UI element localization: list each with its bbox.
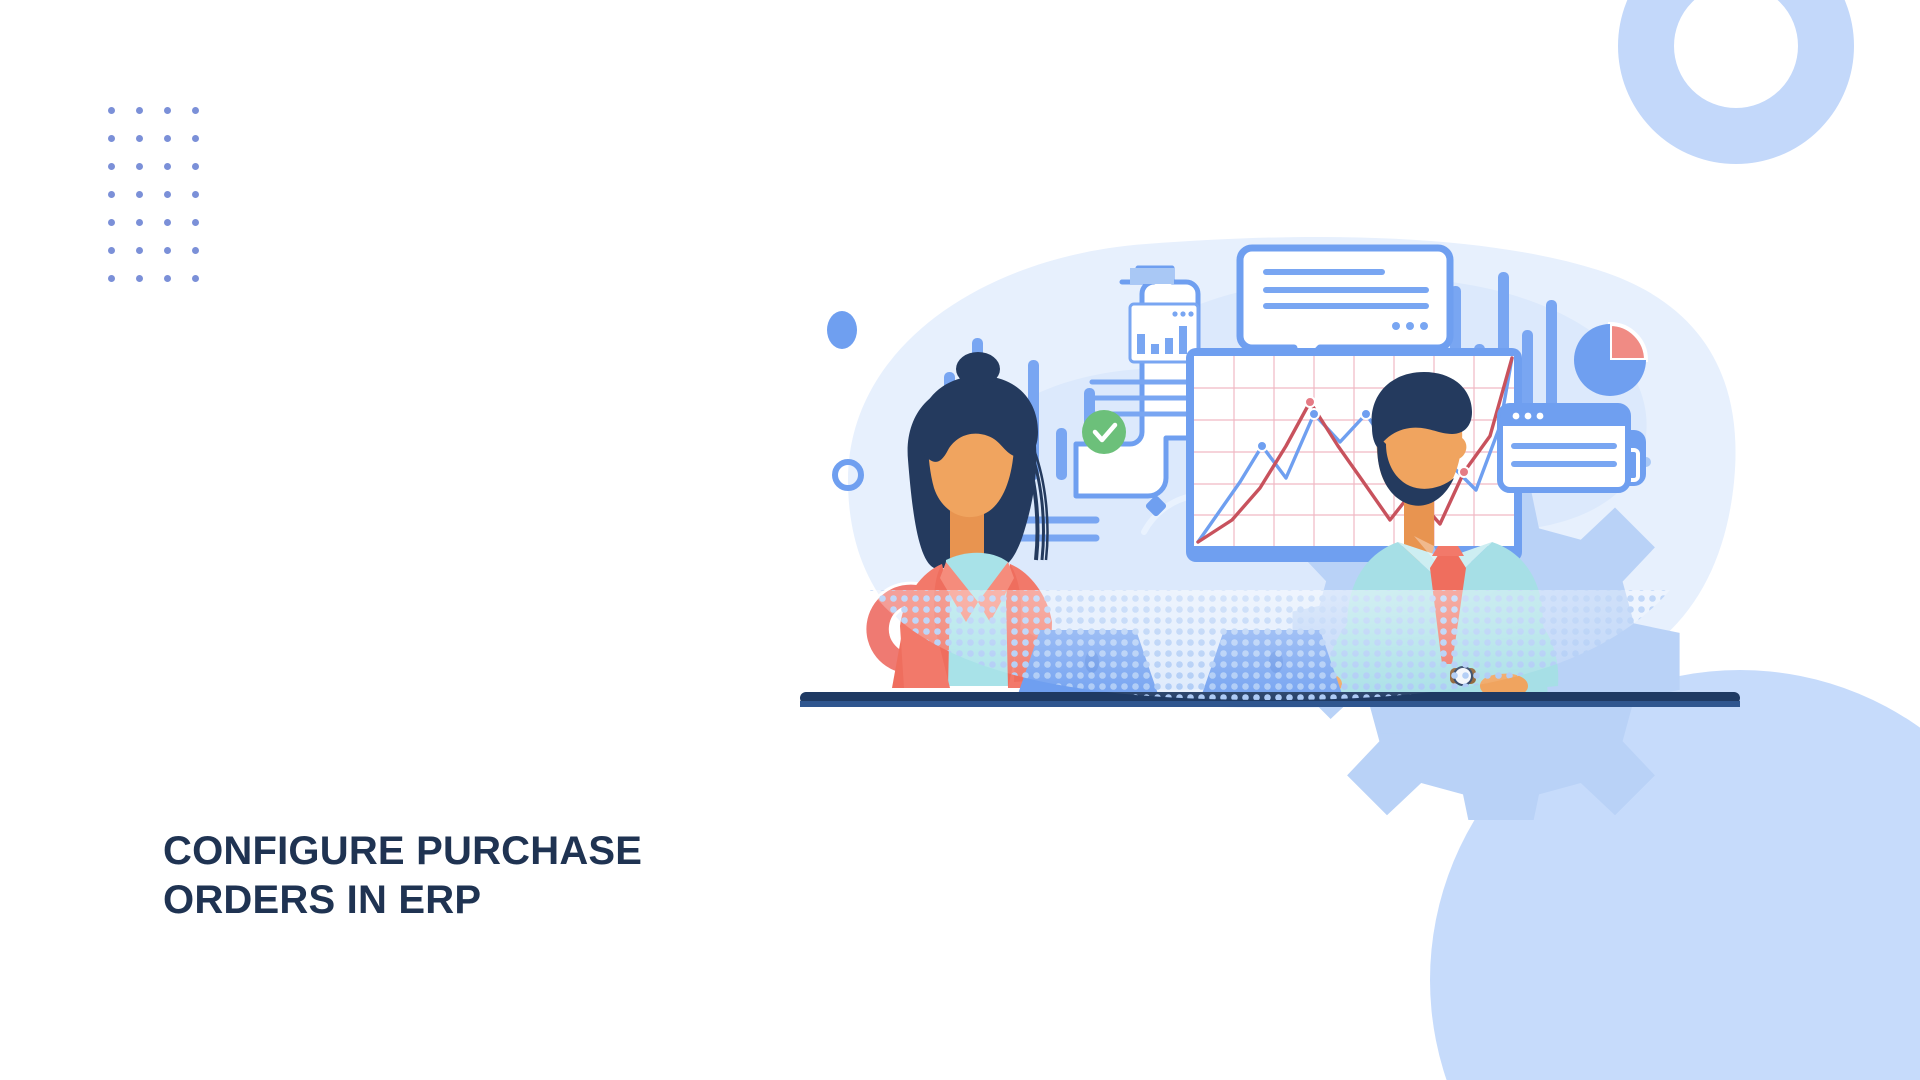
grid-dot [136, 219, 143, 226]
grid-dot [108, 219, 115, 226]
grid-dot [164, 135, 171, 142]
grid-dot [192, 135, 199, 142]
corner-ring-icon [1618, 0, 1854, 164]
grid-dot [192, 191, 199, 198]
grid-dot [164, 275, 171, 282]
grid-dot [192, 275, 199, 282]
grid-dot [164, 247, 171, 254]
grid-dot [108, 247, 115, 254]
dot-grid-decoration [108, 107, 220, 303]
line-chart-window [1186, 348, 1522, 562]
grid-dot [164, 107, 171, 114]
check-badge [1082, 410, 1126, 454]
grid-dot [192, 163, 199, 170]
grid-dot [108, 163, 115, 170]
window-card-right [1500, 406, 1628, 490]
grid-dot [192, 107, 199, 114]
grid-dot [108, 107, 115, 114]
grid-dot [192, 247, 199, 254]
window-dots [1513, 413, 1544, 420]
bubble-dots [1392, 322, 1428, 330]
dot-ellipse-left [827, 311, 857, 349]
grid-dot [136, 135, 143, 142]
grid-dot [164, 163, 171, 170]
grid-dot [108, 191, 115, 198]
card-dots [1172, 311, 1193, 316]
grid-dot [136, 247, 143, 254]
grid-dot [108, 135, 115, 142]
grid-dot [136, 191, 143, 198]
grid-dot [136, 275, 143, 282]
hero-banner: Configure Purchase Orders in ERP [0, 0, 1920, 1080]
grid-dot [164, 219, 171, 226]
grid-dot [164, 191, 171, 198]
grid-dot [136, 163, 143, 170]
page-title: Configure Purchase Orders in ERP [163, 827, 803, 925]
pie-chart-small [1574, 324, 1646, 396]
erp-teamwork-illustration [800, 230, 1740, 820]
grid-dot [108, 275, 115, 282]
grid-dot [192, 219, 199, 226]
grid-dot [136, 107, 143, 114]
